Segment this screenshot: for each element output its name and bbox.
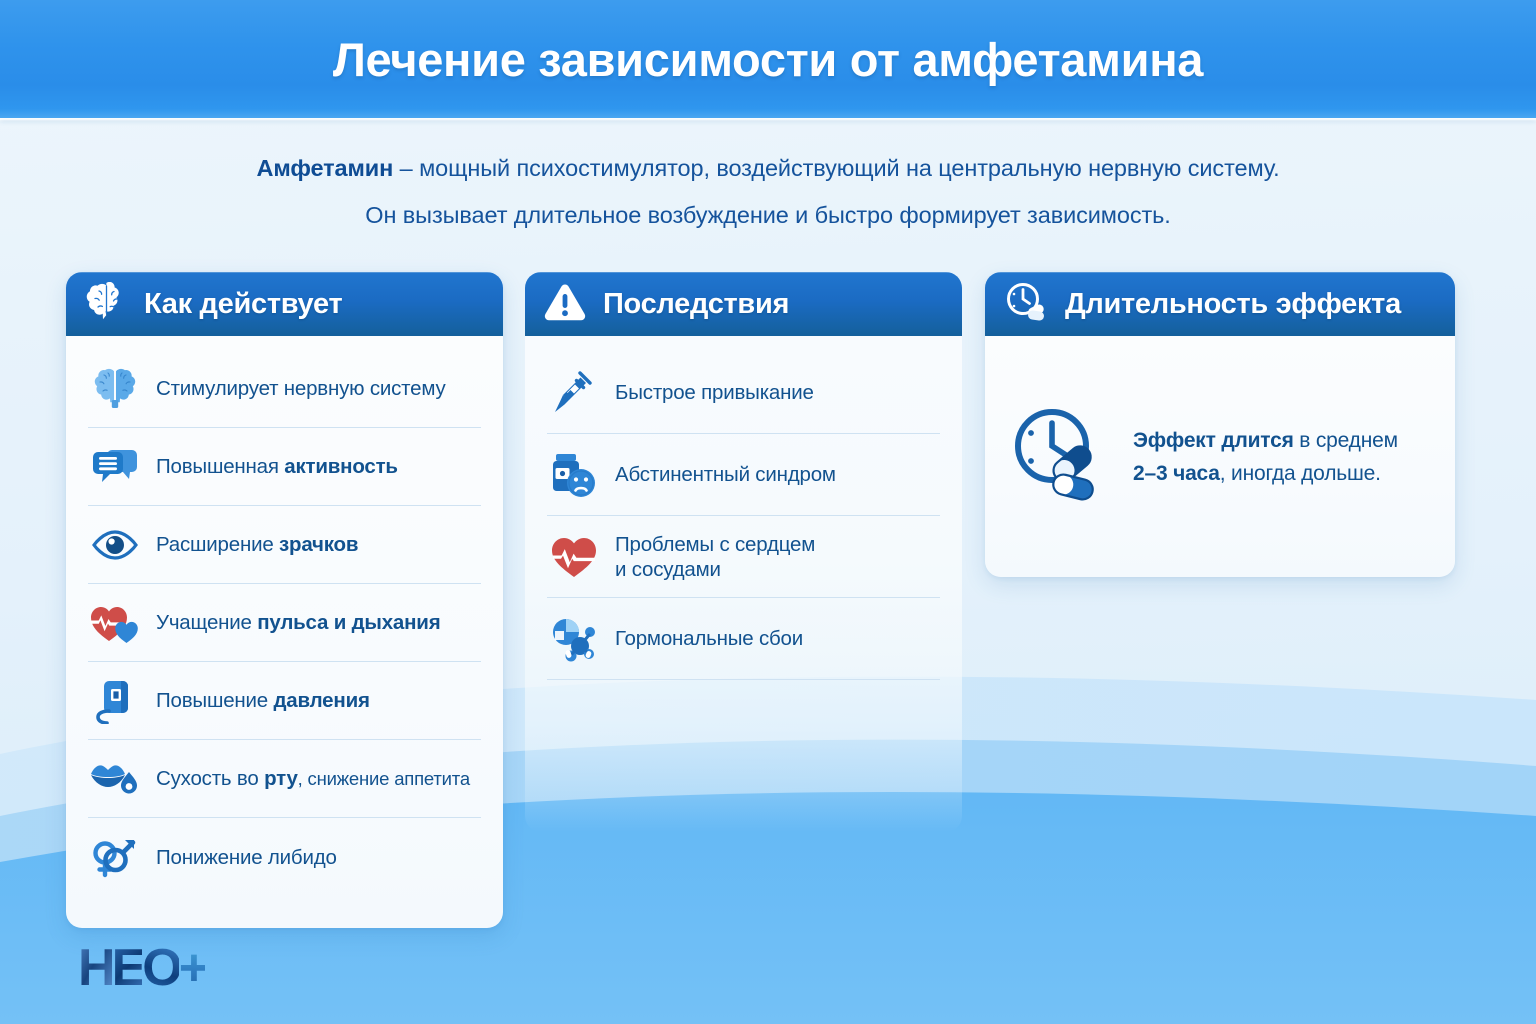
hearts-pulse-icon — [88, 601, 142, 645]
logo-letter-e: Е — [112, 939, 143, 997]
page-banner: Лечение зависимости от амфетамина — [0, 0, 1536, 118]
intro-line-1-rest: – мощный психостимулятор, воздействующий… — [393, 155, 1279, 181]
list-item-label: Стимулирует нервную систему — [156, 376, 446, 401]
list-item-label: Быстрое привыкание — [615, 380, 814, 405]
chat-bubbles-icon — [88, 446, 142, 488]
logo-letter-n: Н — [78, 939, 112, 997]
duration-bold-2: 2–3 часа — [1133, 462, 1220, 485]
intro-line-1: Амфетамин – мощный психостимулятор, возд… — [0, 145, 1536, 192]
card-how-body: Стимулирует нервную систему Повышенная а… — [66, 336, 503, 928]
clock-pills-large-icon — [1007, 402, 1115, 511]
list-item: Расширение зрачков — [88, 506, 481, 584]
brain-icon — [88, 366, 142, 412]
intro-line-2: Он вызывает длительное возбуждение и быс… — [0, 192, 1536, 239]
card-duration-body: Эффект длится в среднем 2–3 часа, иногда… — [985, 336, 1455, 577]
warning-triangle-icon — [543, 282, 587, 327]
blood-pressure-monitor-icon — [88, 678, 142, 724]
list-item-label: Сухость во рту, снижение аппетита — [156, 766, 470, 791]
brain-icon — [84, 282, 128, 327]
list-item-label: Учащение пульса и дыхания — [156, 610, 440, 635]
card-how-header: Как действует — [66, 272, 503, 336]
list-item: Абстинентный синдром — [547, 434, 940, 516]
list-item-label: Расширение зрачков — [156, 532, 358, 557]
duration-mid: в среднем — [1294, 429, 1398, 452]
list-item: Гормональные сбои — [547, 598, 940, 680]
duration-tail: , иногда дольше. — [1220, 462, 1381, 485]
gender-symbols-icon — [88, 834, 142, 880]
eye-icon — [88, 529, 142, 561]
hormones-molecule-icon — [547, 616, 601, 662]
list-item: Понижение либидо — [88, 818, 481, 896]
list-item-label: Повышение давления — [156, 688, 370, 713]
logo-plus-icon: + — [179, 939, 205, 997]
card-duration-header: Длительность эффекта — [985, 272, 1455, 336]
syringe-icon — [547, 368, 601, 418]
list-item: Стимулирует нервную систему — [88, 350, 481, 428]
list-item-label: Проблемы с сердцеми сосудами — [615, 532, 815, 582]
logo-letter-o: О — [142, 939, 178, 997]
intro-block: Амфетамин – мощный психостимулятор, возд… — [0, 145, 1536, 239]
card-duration-title: Длительность эффекта — [1065, 288, 1401, 321]
list-item: Учащение пульса и дыхания — [88, 584, 481, 662]
duration-bold-1: Эффект длится — [1133, 429, 1294, 452]
pill-bottle-sad-face-icon — [547, 450, 601, 500]
card-consequences-header: Последствия — [525, 272, 962, 336]
list-item: Проблемы с сердцеми сосудами — [547, 516, 940, 598]
card-duration: Длительность эффекта — [985, 272, 1455, 577]
list-item-label: Абстинентный синдром — [615, 462, 836, 487]
list-item-label: Гормональные сбои — [615, 626, 803, 651]
list-item: Сухость во рту, снижение аппетита — [88, 740, 481, 818]
duration-text: Эффект длится в среднем 2–3 часа, иногда… — [1133, 424, 1398, 490]
list-item-label: Повышенная активность — [156, 454, 398, 479]
intro-bold-term: Амфетамин — [256, 155, 393, 181]
list-item: Повышенная активность — [88, 428, 481, 506]
brand-logo: НЕО+ — [78, 942, 205, 994]
lips-droplet-icon — [88, 758, 142, 800]
card-consequences-body: Быстрое привыкание А — [525, 336, 962, 832]
card-consequences-title: Последствия — [603, 288, 789, 321]
page-title: Лечение зависимости от амфетамина — [333, 32, 1203, 87]
list-item: Быстрое привыкание — [547, 352, 940, 434]
card-consequences: Последствия Быстрое привыкание — [525, 272, 962, 832]
heart-pulse-icon — [547, 535, 601, 579]
card-how-it-works: Как действует — [66, 272, 503, 928]
card-how-title: Как действует — [144, 288, 342, 321]
list-item: Повышение давления — [88, 662, 481, 740]
infographic-poster: Лечение зависимости от амфетамина Амфета… — [0, 0, 1536, 1024]
clock-pills-icon — [1003, 281, 1049, 328]
list-item-label: Понижение либидо — [156, 845, 337, 870]
